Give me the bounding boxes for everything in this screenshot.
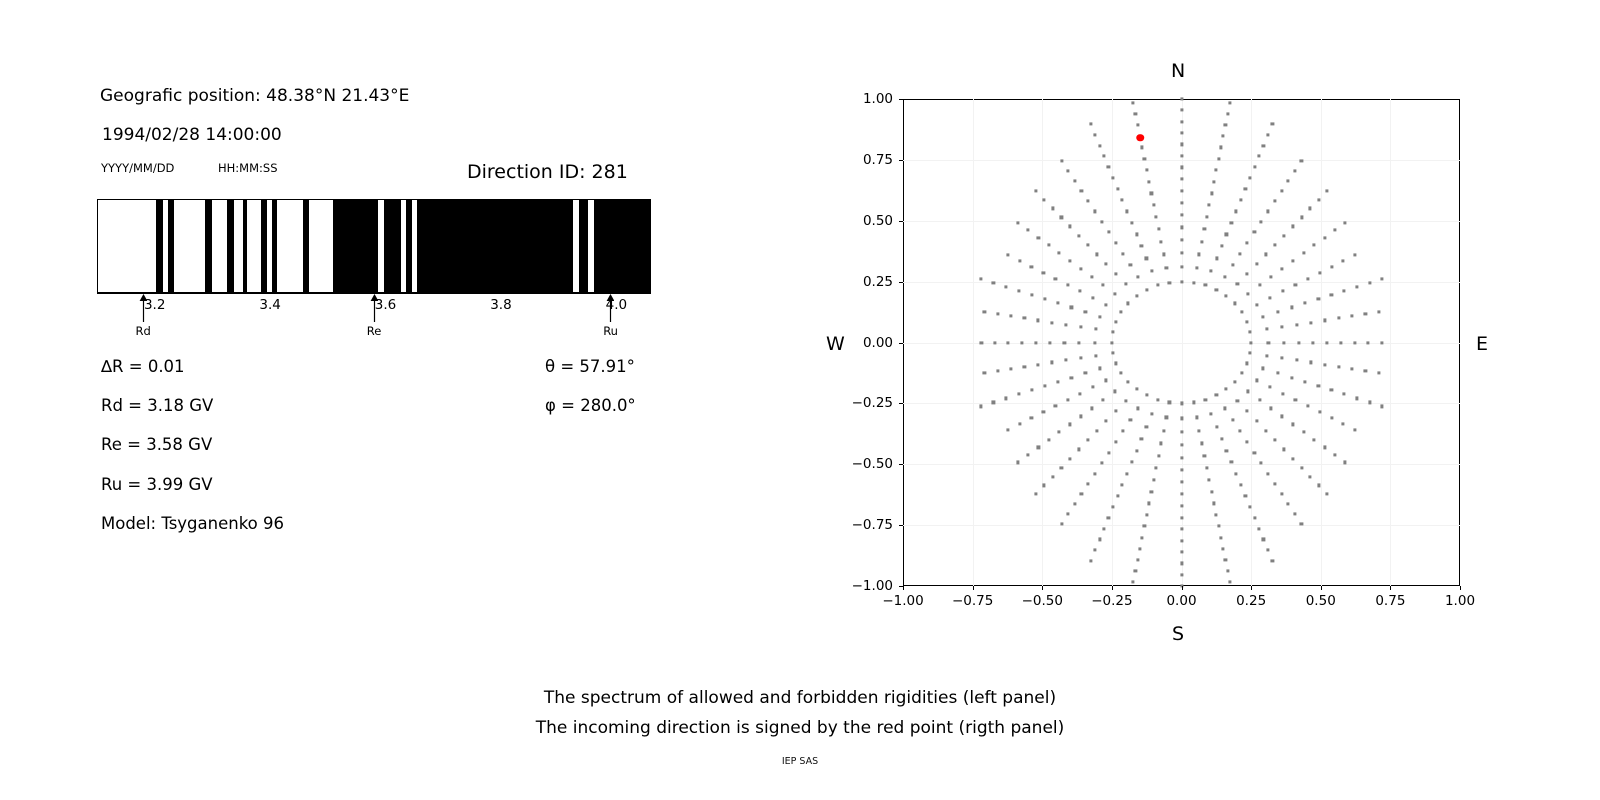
scatter-point — [1060, 466, 1063, 469]
scatter-point — [1223, 275, 1226, 278]
scatter-point — [1273, 482, 1276, 485]
scatter-point — [1236, 283, 1239, 286]
scatter-point — [1323, 446, 1326, 449]
scatter-point — [1114, 362, 1117, 365]
scatter-point — [1114, 320, 1117, 323]
polar-x-tick-label: 0.25 — [1236, 593, 1266, 609]
scatter-point — [1065, 359, 1068, 362]
scatter-point — [1102, 283, 1105, 286]
scatter-point — [1120, 310, 1123, 313]
scatter-point — [1091, 296, 1094, 299]
scatter-point — [1257, 527, 1260, 530]
scatter-point — [1156, 398, 1159, 401]
polar-y-tick-mark — [899, 464, 903, 465]
scatter-point — [1355, 285, 1358, 288]
scatter-point — [1136, 559, 1139, 562]
scatter-point — [1330, 265, 1333, 268]
scatter-point — [1051, 207, 1054, 210]
scatter-point — [1017, 289, 1020, 292]
scatter-point — [1253, 451, 1256, 454]
scatter-point — [1260, 462, 1263, 465]
scatter-point — [1225, 388, 1228, 391]
scatter-point — [1136, 407, 1139, 410]
geographic-position-label: Geografic position: 48.38°N 21.43°E — [100, 86, 409, 106]
forbidden-band — [333, 200, 379, 292]
scatter-point — [1318, 411, 1321, 414]
scatter-point — [1258, 398, 1261, 401]
polar-y-tick-label: 1.00 — [835, 91, 893, 107]
scatter-point — [1077, 234, 1080, 237]
polar-y-tick-mark — [899, 221, 903, 222]
scatter-point — [1047, 244, 1050, 247]
scatter-point — [1240, 310, 1243, 313]
scatter-point — [1004, 397, 1007, 400]
scatter-point — [1353, 428, 1356, 431]
scatter-point — [1086, 438, 1089, 441]
scatter-point — [1043, 198, 1046, 201]
scatter-point — [1219, 146, 1222, 149]
scatter-point — [1246, 241, 1249, 244]
param-ru: Ru = 3.99 GV — [101, 475, 213, 494]
polar-x-tick-label: −0.75 — [952, 593, 993, 609]
scatter-point — [1145, 394, 1148, 397]
incoming-direction-chart — [903, 99, 1460, 586]
scatter-point — [1030, 265, 1033, 268]
scatter-point — [1180, 166, 1183, 169]
scatter-point — [1152, 478, 1155, 481]
scatter-point — [1007, 253, 1010, 256]
scatter-point — [1114, 272, 1117, 275]
scatter-point — [1070, 376, 1073, 379]
scatter-point — [1294, 398, 1297, 401]
scatter-point — [1145, 513, 1148, 516]
scatter-point — [1180, 468, 1183, 471]
scatter-point — [1113, 292, 1116, 295]
scatter-point — [1079, 325, 1082, 328]
scatter-point — [1246, 441, 1249, 444]
scatter-point — [1090, 407, 1093, 410]
polar-y-tick-mark — [899, 160, 903, 161]
scatter-point — [1208, 478, 1211, 481]
scatter-point — [1317, 484, 1320, 487]
scatter-point — [1098, 538, 1101, 541]
scatter-point — [1111, 351, 1114, 354]
scatter-point — [1069, 225, 1072, 228]
scatter-point — [1009, 315, 1012, 318]
scatter-point — [1215, 513, 1218, 516]
scatter-point — [1210, 412, 1213, 415]
scatter-point — [1180, 443, 1183, 446]
polar-y-tick-mark — [899, 403, 903, 404]
caption-line-2: The incoming direction is signed by the … — [0, 718, 1600, 738]
polar-y-tick-mark — [899, 343, 903, 344]
scatter-point — [1043, 297, 1046, 300]
scatter-point — [1180, 516, 1183, 519]
rigidity-spectrum-chart — [97, 199, 651, 293]
scatter-point — [1281, 356, 1284, 359]
scatter-point — [1180, 528, 1183, 531]
scatter-point — [1222, 134, 1225, 137]
scatter-point — [1138, 547, 1141, 550]
scatter-point — [1246, 292, 1249, 295]
scatter-point — [1220, 437, 1223, 440]
scatter-point — [1034, 189, 1037, 192]
scatter-point — [1027, 453, 1030, 456]
scatter-point — [1244, 494, 1247, 497]
scatter-point — [1180, 120, 1183, 123]
scatter-point — [992, 401, 995, 404]
scatter-point — [1180, 417, 1183, 420]
param-rd: Rd = 3.18 GV — [101, 396, 213, 415]
scatter-point — [1180, 480, 1183, 483]
scatter-point — [1180, 504, 1183, 507]
scatter-point — [1231, 263, 1234, 266]
scatter-point — [1326, 493, 1329, 496]
scatter-point — [1226, 112, 1229, 115]
scatter-point — [1200, 442, 1203, 445]
scatter-point — [1223, 407, 1226, 410]
scatter-point — [1162, 429, 1165, 432]
scatter-point — [1368, 281, 1371, 284]
polar-y-tick-mark — [899, 99, 903, 100]
scatter-point — [1067, 513, 1070, 516]
scatter-point — [1050, 321, 1053, 324]
scatter-point — [1180, 214, 1183, 217]
scatter-point — [1058, 431, 1061, 434]
forbidden-band — [168, 200, 174, 292]
scatter-point — [1079, 415, 1082, 418]
scatter-point — [1155, 466, 1158, 469]
scatter-point — [1134, 570, 1137, 573]
scatter-point — [1274, 243, 1277, 246]
scatter-point — [1215, 425, 1218, 428]
scatter-point — [1215, 169, 1218, 172]
polar-x-tick-label: −1.00 — [882, 593, 923, 609]
scatter-point — [1016, 221, 1019, 224]
scatter-point — [1141, 146, 1144, 149]
scatter-point — [1255, 303, 1258, 306]
scatter-point — [1129, 263, 1132, 266]
scatter-point — [1068, 259, 1071, 262]
scatter-point — [1302, 251, 1305, 254]
scatter-point — [1225, 294, 1228, 297]
scatter-point — [1116, 494, 1119, 497]
scatter-point — [1205, 215, 1208, 218]
scatter-point — [1266, 328, 1269, 331]
scatter-point — [1132, 581, 1135, 584]
scatter-point — [1147, 502, 1150, 505]
scatter-point — [1342, 423, 1345, 426]
scatter-point — [1102, 398, 1105, 401]
scatter-point — [1007, 428, 1010, 431]
scatter-point — [1198, 253, 1201, 256]
scatter-point — [1143, 157, 1146, 160]
scatter-point — [1302, 431, 1305, 434]
scatter-point — [1180, 97, 1183, 100]
scatter-point — [1087, 199, 1090, 202]
scatter-point — [1078, 392, 1081, 395]
scatter-point — [1266, 133, 1269, 136]
polar-x-tick-mark — [1460, 586, 1461, 590]
scatter-point — [1282, 341, 1285, 344]
scatter-point — [1047, 438, 1050, 441]
scatter-point — [1258, 283, 1261, 286]
scatter-point — [1023, 317, 1026, 320]
scatter-point — [1130, 221, 1133, 224]
polar-x-tick-mark — [903, 586, 904, 590]
scatter-point — [1150, 269, 1153, 272]
scatter-point — [1367, 341, 1370, 344]
scatter-point — [1132, 101, 1135, 104]
scatter-point — [1304, 380, 1307, 383]
scatter-point — [1217, 157, 1220, 160]
forbidden-band — [156, 200, 164, 292]
scatter-point — [1380, 277, 1383, 280]
polar-y-tick-label: 0.75 — [835, 152, 893, 168]
scatter-point — [1105, 419, 1108, 422]
scatter-point — [1135, 233, 1138, 236]
scatter-point — [1260, 220, 1263, 223]
param-theta: θ = 57.91° — [545, 357, 635, 376]
scatter-point — [1060, 159, 1063, 162]
scatter-point — [1180, 573, 1183, 576]
scatter-point — [1141, 536, 1144, 539]
scatter-point — [1246, 272, 1249, 275]
scatter-point — [1160, 442, 1163, 445]
scatter-point — [1236, 399, 1239, 402]
scatter-point — [1077, 448, 1080, 451]
forbidden-band — [303, 200, 309, 292]
scatter-point — [1195, 416, 1198, 419]
scatter-point — [1180, 265, 1183, 268]
scatter-point — [1114, 441, 1117, 444]
polar-x-tick-label: 0.75 — [1375, 593, 1405, 609]
scatter-point — [1105, 262, 1108, 265]
scatter-point — [1065, 323, 1068, 326]
scatter-point — [1121, 199, 1124, 202]
forbidden-band — [243, 200, 248, 292]
scatter-point — [1192, 281, 1195, 284]
scatter-point — [1135, 388, 1138, 391]
scatter-point — [1351, 367, 1354, 370]
scatter-point — [1127, 302, 1130, 305]
scatter-point — [1093, 472, 1096, 475]
scatter-point — [1290, 376, 1293, 379]
scatter-point — [1353, 341, 1356, 344]
scatter-point — [1036, 319, 1039, 322]
scatter-point — [1318, 271, 1321, 274]
scatter-point — [1311, 341, 1314, 344]
rigidity-tick-label: 3.2 — [144, 297, 165, 313]
scatter-point — [1215, 394, 1218, 397]
scatter-point — [1105, 303, 1108, 306]
scatter-point — [1180, 154, 1183, 157]
scatter-point — [1291, 225, 1294, 228]
scatter-point — [1313, 438, 1316, 441]
scatter-point — [1248, 176, 1251, 179]
scatter-point — [1004, 285, 1007, 288]
scatter-point — [1226, 570, 1229, 573]
time-format-hint: HH:MM:SS — [218, 161, 278, 175]
rigidity-marker-arrow — [138, 294, 147, 322]
datetime-label: 1994/02/28 14:00:00 — [102, 125, 282, 145]
scatter-point — [1079, 356, 1082, 359]
scatter-point — [1239, 483, 1242, 486]
scatter-point — [1056, 302, 1059, 305]
scatter-point — [1180, 143, 1183, 146]
scatter-point — [1042, 411, 1045, 414]
scatter-point — [1233, 302, 1236, 305]
scatter-point — [1020, 341, 1023, 344]
scatter-point — [1215, 257, 1218, 260]
forbidden-band-group — [98, 200, 650, 292]
scatter-point — [1034, 341, 1037, 344]
scatter-point — [1377, 311, 1380, 314]
scatter-point — [1257, 155, 1260, 158]
scatter-point — [1165, 416, 1168, 419]
scatter-point — [1291, 457, 1294, 460]
scatter-point — [1291, 259, 1294, 262]
scatter-point — [1089, 559, 1092, 562]
scatter-point — [1060, 216, 1063, 219]
scatter-point — [1016, 461, 1019, 464]
scatter-point — [1290, 306, 1293, 309]
scatter-point — [979, 405, 982, 408]
scatter-point — [1368, 401, 1371, 404]
scatter-point — [1036, 363, 1039, 366]
scatter-point — [1073, 503, 1076, 506]
scatter-point — [1125, 472, 1128, 475]
scatter-point — [1107, 166, 1110, 169]
scatter-point — [1127, 380, 1130, 383]
caption-line-1: The spectrum of allowed and forbidden ri… — [0, 688, 1600, 708]
scatter-point — [1043, 384, 1046, 387]
scatter-point — [1343, 221, 1346, 224]
scatter-point — [1309, 321, 1312, 324]
polar-x-tick-label: 0.50 — [1306, 593, 1336, 609]
compass-label-west: W — [826, 333, 845, 355]
scatter-point — [1282, 234, 1285, 237]
scatter-point — [1208, 204, 1211, 207]
scatter-point — [1323, 363, 1326, 366]
scatter-point — [1027, 228, 1030, 231]
scatter-point — [1204, 284, 1207, 287]
forbidden-band — [417, 200, 573, 292]
scatter-point — [1212, 180, 1215, 183]
scatter-point — [1140, 245, 1143, 248]
scatter-point — [1180, 539, 1183, 542]
scatter-point — [1333, 453, 1336, 456]
polar-x-tick-mark — [1112, 586, 1113, 590]
scatter-point — [1192, 401, 1195, 404]
scatter-point — [1023, 365, 1026, 368]
scatter-point — [1060, 522, 1063, 525]
polar-y-tick-label: 0.50 — [835, 213, 893, 229]
scatter-point — [1078, 290, 1081, 293]
scatter-point — [1326, 189, 1329, 192]
scatter-point — [1079, 267, 1082, 270]
scatter-point — [1246, 409, 1249, 412]
scatter-point — [1048, 341, 1051, 344]
polar-x-tick-mark — [1042, 586, 1043, 590]
scatter-point — [1230, 461, 1233, 464]
scatter-point — [1269, 386, 1272, 389]
scatter-point — [1034, 493, 1037, 496]
scatter-point — [1037, 446, 1040, 449]
scatter-point — [1280, 189, 1283, 192]
scatter-point — [1317, 198, 1320, 201]
scatter-point — [1281, 290, 1284, 293]
scatter-point — [1240, 371, 1243, 374]
scatter-point — [1271, 123, 1274, 126]
scatter-point — [1300, 522, 1303, 525]
scatter-point — [1100, 462, 1103, 465]
scatter-point — [996, 313, 999, 316]
scatter-point — [1330, 389, 1333, 392]
scatter-point — [1281, 267, 1284, 270]
scatter-point — [1342, 259, 1345, 262]
scatter-point — [1276, 372, 1279, 375]
scatter-point — [1255, 419, 1258, 422]
scatter-point — [1228, 101, 1231, 104]
scatter-point — [1253, 166, 1256, 169]
scatter-point — [1250, 341, 1253, 344]
scatter-point — [1080, 189, 1083, 192]
scatter-point — [1066, 398, 1069, 401]
polar-y-tick-label: −0.75 — [835, 517, 893, 533]
incoming-direction-point — [1136, 134, 1144, 142]
scatter-point — [1267, 210, 1270, 213]
scatter-point — [1262, 538, 1265, 541]
scatter-point — [1198, 429, 1201, 432]
scatter-point — [1094, 328, 1097, 331]
scatter-point — [1168, 281, 1171, 284]
scatter-point — [1255, 379, 1258, 382]
scatter-point — [1155, 215, 1158, 218]
compass-label-south: S — [1172, 623, 1184, 645]
direction-id-label: Direction ID: 281 — [467, 161, 628, 183]
scatter-point — [1205, 466, 1208, 469]
scatter-point — [1105, 379, 1108, 382]
scatter-point — [1107, 451, 1110, 454]
scatter-point — [1111, 505, 1114, 508]
scatter-point — [1145, 288, 1148, 291]
scatter-point — [1280, 492, 1283, 495]
scatter-point — [1050, 361, 1053, 364]
scatter-point — [1058, 251, 1061, 254]
scatter-point — [1043, 484, 1046, 487]
scatter-point — [1054, 277, 1057, 280]
scatter-point — [1180, 178, 1183, 181]
scatter-point — [1304, 302, 1307, 305]
scatter-point — [1309, 207, 1312, 210]
scatter-point — [1116, 187, 1119, 190]
polar-x-tick-mark — [1251, 586, 1252, 590]
scatter-point — [1180, 562, 1183, 565]
scatter-point — [1364, 369, 1367, 372]
scatter-point — [1351, 315, 1354, 318]
scatter-point — [1157, 454, 1160, 457]
scatter-point — [1248, 505, 1251, 508]
scatter-point — [1095, 253, 1098, 256]
scatter-point — [1248, 330, 1251, 333]
scatter-point — [1136, 275, 1139, 278]
scatter-point — [1084, 372, 1087, 375]
scatter-point — [1018, 423, 1021, 426]
scatter-point — [1217, 525, 1220, 528]
scatter-point — [1230, 221, 1233, 224]
scatter-point — [1093, 549, 1096, 552]
